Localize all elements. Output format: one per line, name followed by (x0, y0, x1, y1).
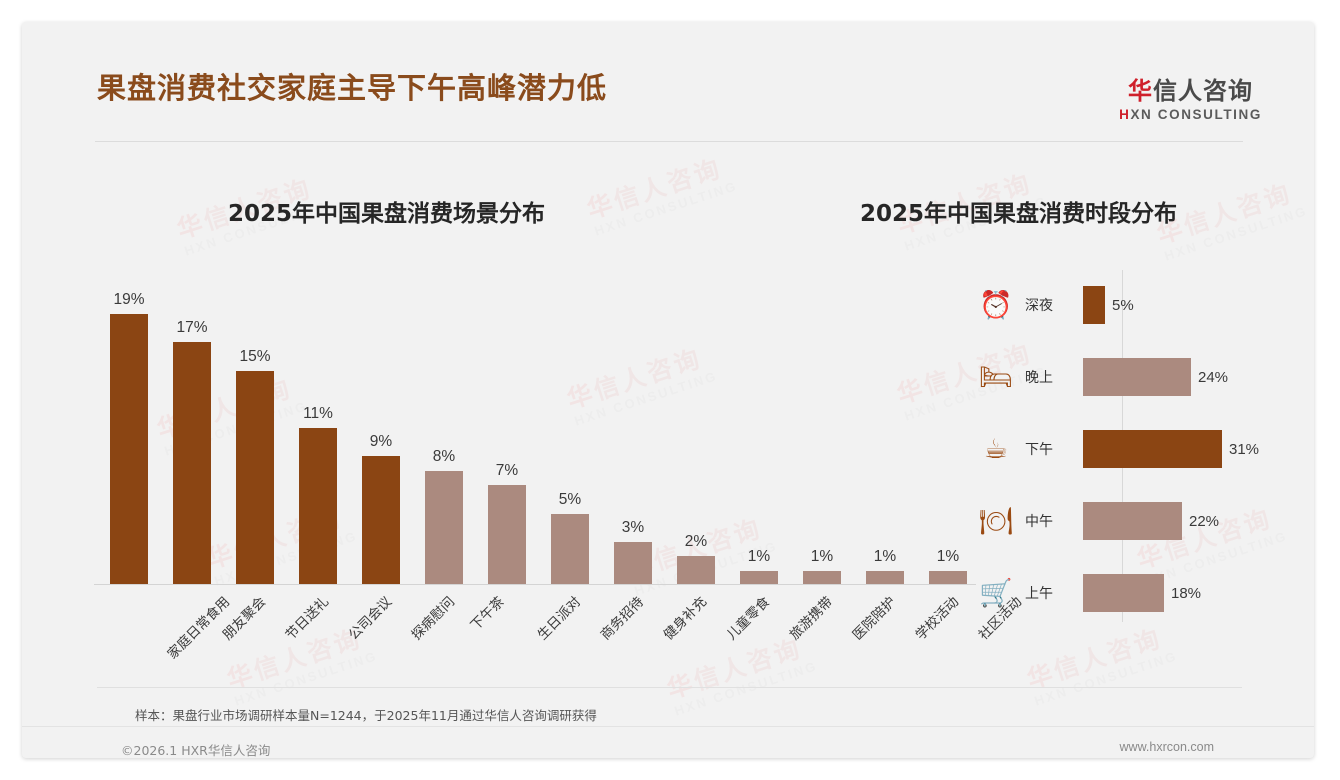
bed-icon: 🛏 (967, 364, 1025, 391)
x-axis-label: 下午茶 (465, 591, 508, 634)
slide-canvas: 华信人咨询HXN CONSULTING华信人咨询HXN CONSULTING华信… (22, 22, 1314, 758)
bar[interactable] (362, 456, 400, 585)
bar-value-label: 2% (685, 533, 707, 551)
company-logo: 华信人咨询 HXN CONSULTING (1119, 78, 1262, 122)
bar-column[interactable]: 2% (663, 285, 729, 585)
bar-value-label: 11% (303, 405, 333, 423)
bar-track: 31% (1083, 424, 1287, 474)
bar-value-label: 3% (622, 519, 644, 537)
x-axis-label: 生日派对 (532, 591, 584, 643)
bar-column[interactable]: 8% (411, 285, 477, 585)
x-axis-label: 旅游携带 (784, 591, 836, 643)
x-axis-label: 儿童零食 (721, 591, 773, 643)
time-bar-row[interactable]: 🛏晚上24% (967, 352, 1287, 402)
bar-value-label: 22% (1189, 513, 1219, 530)
left-chart-title: 2025年中国果盘消费场景分布 (228, 194, 545, 228)
bar-column[interactable]: 3% (600, 285, 666, 585)
bar[interactable] (110, 314, 148, 585)
bar[interactable] (173, 342, 211, 585)
bar-column[interactable]: 17% (159, 285, 225, 585)
logo-english: HXN CONSULTING (1119, 107, 1262, 122)
bar[interactable] (1083, 502, 1182, 540)
bar[interactable] (929, 571, 967, 585)
x-axis-label: 学校活动 (910, 591, 962, 643)
website-link[interactable]: www.hxrcon.com (1120, 740, 1214, 754)
bar-track: 24% (1083, 352, 1287, 402)
bar-value-label: 19% (113, 291, 144, 309)
bar-value-label: 7% (496, 462, 518, 480)
bar[interactable] (1083, 574, 1164, 612)
copyright-text: ©2026.1 HXR华信人咨询 (121, 740, 270, 758)
bar[interactable] (425, 471, 463, 585)
bar-value-label: 9% (370, 433, 392, 451)
x-axis-label: 公司会议 (343, 591, 395, 643)
bar-value-label: 8% (433, 448, 455, 466)
x-axis-label: 探病慰问 (406, 591, 458, 643)
logo-chinese: 华信人咨询 (1119, 78, 1262, 104)
bar-column[interactable]: 5% (537, 285, 603, 585)
slide-header: 果盘消费社交家庭主导下午高峰潜力低 华信人咨询 HXN CONSULTING (22, 22, 1314, 122)
logo-chinese-rest: 信人咨询 (1153, 77, 1253, 105)
bar-column[interactable]: 19% (96, 285, 162, 585)
bar[interactable] (1083, 430, 1222, 468)
bar-track: 22% (1083, 496, 1287, 546)
bar-column[interactable]: 1% (726, 285, 792, 585)
time-category-label: 下午 (1025, 439, 1083, 459)
bar[interactable] (677, 556, 715, 585)
bar[interactable] (740, 571, 778, 585)
time-category-label: 中午 (1025, 511, 1083, 531)
scene-distribution-chart: 19%17%15%11%9%8%7%5%3%2%1%1%1%1% 家庭日常食用朋… (82, 277, 987, 677)
bar-value-label: 17% (176, 319, 207, 337)
source-note: 样本：果盘行业市场调研样本量N=1244，于2025年11月通过华信人咨询调研获… (135, 705, 597, 724)
bar-column[interactable]: 1% (789, 285, 855, 585)
bar-column[interactable]: 1% (852, 285, 918, 585)
logo-english-h: H (1119, 107, 1130, 122)
bar-track: 18% (1083, 568, 1287, 618)
bar-value-label: 1% (937, 548, 959, 566)
bar[interactable] (803, 571, 841, 585)
shopping-cart-icon: 🛒 (967, 580, 1025, 607)
logo-chinese-red: 华 (1128, 77, 1153, 105)
plate-cutlery-icon: 🍽 (967, 508, 1025, 535)
bar-value-label: 18% (1171, 585, 1201, 602)
bar-value-label: 1% (811, 548, 833, 566)
time-category-label: 上午 (1025, 583, 1083, 603)
right-chart-title: 2025年中国果盘消费时段分布 (860, 194, 1177, 228)
time-bar-row[interactable]: ⏰深夜5% (967, 280, 1287, 330)
bar-column[interactable]: 11% (285, 285, 351, 585)
bar-column[interactable]: 9% (348, 285, 414, 585)
bar[interactable] (1083, 286, 1105, 324)
time-bar-row[interactable]: 🛒上午18% (967, 568, 1287, 618)
bar-value-label: 1% (874, 548, 896, 566)
bar-value-label: 5% (1112, 297, 1134, 314)
bar-column[interactable]: 7% (474, 285, 540, 585)
bar[interactable] (551, 514, 589, 585)
time-bar-row[interactable]: 🍽中午22% (967, 496, 1287, 546)
logo-english-rest: XN CONSULTING (1130, 107, 1262, 122)
bar-value-label: 1% (748, 548, 770, 566)
x-axis-labels: 家庭日常食用朋友聚会节日送礼公司会议探病慰问下午茶生日派对商务招待健身补充儿童零… (82, 585, 987, 677)
page-title: 果盘消费社交家庭主导下午高峰潜力低 (97, 65, 607, 107)
header-divider (95, 141, 1243, 142)
bar-value-label: 15% (239, 348, 270, 366)
x-axis-label: 医院陪护 (847, 591, 899, 643)
footer-divider (22, 726, 1314, 727)
time-distribution-chart: ⏰深夜5%🛏晚上24%☕下午31%🍽中午22%🛒上午18% (967, 280, 1287, 652)
bar-column[interactable]: 15% (222, 285, 288, 585)
bar[interactable] (866, 571, 904, 585)
x-axis-label: 健身补充 (658, 591, 710, 643)
bar-track: 5% (1083, 280, 1287, 330)
bar[interactable] (488, 485, 526, 585)
bar[interactable] (299, 428, 337, 585)
bar[interactable] (1083, 358, 1191, 396)
bar[interactable] (236, 371, 274, 585)
time-bar-row[interactable]: ☕下午31% (967, 424, 1287, 474)
bar-group: 19%17%15%11%9%8%7%5%3%2%1%1%1%1% (82, 285, 987, 585)
x-axis-label: 节日送礼 (280, 591, 332, 643)
bar-value-label: 24% (1198, 369, 1228, 386)
bar[interactable] (614, 542, 652, 585)
source-divider (97, 687, 1242, 688)
time-category-label: 深夜 (1025, 295, 1083, 315)
watermark-text: 华信人咨询HXN CONSULTING (582, 146, 739, 239)
x-axis-label: 商务招待 (595, 591, 647, 643)
alarm-clock-icon: ⏰ (967, 292, 1025, 319)
bar-value-label: 5% (559, 491, 581, 509)
coffee-cup-icon: ☕ (967, 436, 1025, 463)
time-category-label: 晚上 (1025, 367, 1083, 387)
bar-value-label: 31% (1229, 441, 1259, 458)
